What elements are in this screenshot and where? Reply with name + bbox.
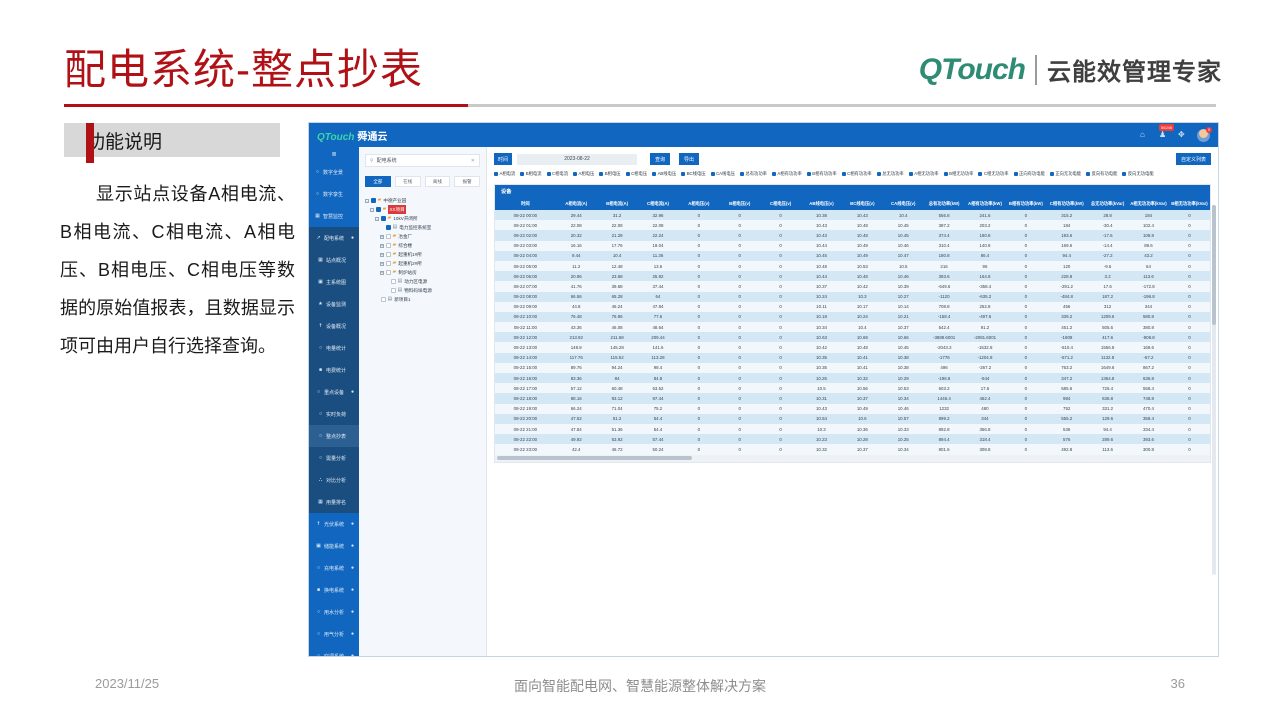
sidebar-item-17[interactable]: ▣储能系统● — [309, 535, 359, 557]
table-cell: 13.6 — [638, 261, 679, 271]
table-cell: 102.4 — [1128, 220, 1169, 230]
checkbox-icon[interactable] — [1086, 172, 1090, 176]
table-row[interactable]: 08-22 05:0011.212.4813.600010.4810.5310.… — [495, 261, 1210, 271]
table-cell: 0 — [678, 424, 719, 434]
table-cell: -17.6 — [1087, 230, 1128, 240]
field-checkbox-3[interactable]: A相电压 — [573, 171, 594, 177]
table-cell: 43.36 — [556, 322, 597, 332]
chevron-down-icon[interactable]: ● — [351, 543, 354, 549]
tree-node[interactable]: ▤物料码垛电源 — [365, 286, 480, 295]
tree-node-list: -▰中德产业园-▰XX项目-▰10kV开闭所▤电力监控系统室+▰冶金厂+▰综合楼… — [365, 196, 480, 304]
application-screenshot: QTouch 舜通云 ⌂ ♟ 56246 ✥ 0 ≣ ○数字全景○数字孪生▦智慧… — [308, 122, 1219, 657]
description-heading-bar: 功能说明 — [64, 123, 280, 157]
circle-icon: ○ — [316, 609, 321, 615]
table-cell: 393.6 — [1128, 434, 1169, 444]
table-cell: 10.34 — [883, 444, 924, 454]
table-cell: 0 — [1169, 322, 1210, 332]
collapse-icon[interactable]: - — [365, 199, 369, 203]
sidebar-item-1[interactable]: ○数字孪生 — [309, 183, 359, 205]
table-cell: 289.6 — [1087, 434, 1128, 444]
tree-node[interactable]: +▰起重机1#所 — [365, 250, 480, 259]
table-cell: 94.24 — [597, 363, 638, 373]
checkbox-icon[interactable] — [1014, 172, 1018, 176]
chevron-down-icon[interactable]: ● — [351, 565, 354, 571]
table-column-header-6[interactable]: C相电压(v) — [760, 198, 801, 210]
sidebar-item-4[interactable]: ▦站点概况 — [309, 249, 359, 271]
table-row[interactable]: 08-22 11:0043.3646.0848.6400010.3410.410… — [495, 322, 1210, 332]
table-column-header-8[interactable]: BC线电压(v) — [842, 198, 883, 210]
table-cell: 10.63 — [801, 332, 842, 342]
chevron-down-icon[interactable]: ● — [351, 631, 354, 637]
table-cell: -30.4 — [1087, 220, 1128, 230]
vertical-scrollbar[interactable] — [1212, 205, 1216, 575]
table-cell: 08-22 05:00 — [495, 261, 556, 271]
file-icon: ▤ — [393, 223, 398, 232]
table-cell: 10.49 — [842, 251, 883, 261]
table-cell: 129.6 — [1087, 414, 1128, 424]
time-label: 时间 — [494, 153, 512, 165]
tree-node[interactable]: ▤动力区电源 — [365, 277, 480, 286]
sidebar-item-label: 数字全景 — [323, 169, 343, 176]
sidebar-item-label: 换电系统 — [324, 587, 344, 594]
table-cell: -2043.2 — [924, 342, 965, 352]
table-cell: 17.76 — [597, 241, 638, 251]
table-row[interactable]: 08-22 02:0020.3221.2822.2400010.4310.481… — [495, 230, 1210, 240]
table-cell: 10.66 — [883, 332, 924, 342]
tree-node[interactable]: -▰XX项目 — [365, 205, 480, 214]
sidebar-item-22[interactable]: ○空调系统● — [309, 645, 359, 657]
table-cell: 1446.4 — [924, 393, 965, 403]
table-cell: 76.96 — [597, 312, 638, 322]
tree-filter-0[interactable]: 全部 — [365, 176, 391, 187]
table-row[interactable]: 08-22 08:0066.5665.286400010.2410.310.27… — [495, 292, 1210, 302]
table-cell: 17.6 — [965, 383, 1006, 393]
table-cell: 0 — [760, 393, 801, 403]
table-row[interactable]: 08-22 07:0041.7639.6837.4400010.3710.421… — [495, 281, 1210, 291]
tree-node[interactable]: +▰综合楼 — [365, 241, 480, 250]
table-cell: 94.4 — [1046, 251, 1087, 261]
table-cell: 140.8 — [965, 241, 1006, 251]
table-cell: 984 — [1046, 393, 1087, 403]
table-cell: 0 — [1169, 292, 1210, 302]
table-cell: 801.6 — [924, 444, 965, 454]
table-column-header-13[interactable]: C相有功功率(kW) — [1046, 198, 1087, 210]
table-cell: 0 — [719, 251, 760, 261]
table-cell: 0 — [678, 393, 719, 403]
image-icon: ▣ — [318, 279, 323, 285]
checkbox-icon[interactable] — [807, 172, 811, 176]
search-button[interactable]: 查询 — [650, 153, 670, 165]
plug-icon: ☨ — [316, 521, 321, 527]
table-cell: 763.2 — [1046, 363, 1087, 373]
table-row[interactable]: 08-22 06:0020.9623.6825.9200010.4410.481… — [495, 271, 1210, 281]
sidebar-item-5[interactable]: ▣主系统图 — [309, 271, 359, 293]
checkbox-icon[interactable] — [909, 172, 913, 176]
sidebar-item-label: 站点概况 — [326, 257, 346, 264]
table-cell: 10.42 — [842, 281, 883, 291]
chevron-down-icon[interactable]: ● — [351, 609, 354, 615]
field-checkbox-14[interactable]: A相无功功率 — [909, 171, 939, 177]
checkbox-icon[interactable] — [494, 172, 498, 176]
table-row[interactable]: 08-22 15:0089.7694.2498.400010.3510.4110… — [495, 363, 1210, 373]
checkbox-icon[interactable] — [944, 172, 948, 176]
table-cell: 10.6 — [842, 414, 883, 424]
table-cell: 10.46 — [883, 241, 924, 251]
table-cell: 22.24 — [638, 230, 679, 240]
table-cell: 20.32 — [556, 230, 597, 240]
table-cell: 0 — [1169, 383, 1210, 393]
expand-icon[interactable]: + — [380, 244, 384, 248]
table-cell: 0 — [719, 241, 760, 251]
table-cell: 10.54 — [801, 414, 842, 424]
table-cell: 10.34 — [883, 393, 924, 403]
field-checkbox-label: A相电流 — [500, 171, 516, 177]
checkbox-icon[interactable] — [978, 172, 982, 176]
tree-filter-buttons: 全部在线离线报警 — [365, 176, 480, 187]
expand-icon[interactable]: + — [380, 271, 384, 275]
field-checkbox-4[interactable]: B相电压 — [599, 171, 620, 177]
tree-filter-1[interactable]: 在线 — [395, 176, 421, 187]
tree-filter-2[interactable]: 离线 — [425, 176, 451, 187]
folder-icon: ▰ — [393, 241, 397, 250]
table-cell: 89.6 — [1128, 241, 1169, 251]
table-cell: 0 — [1169, 210, 1210, 220]
tree-filter-3[interactable]: 报警 — [454, 176, 480, 187]
table-row[interactable]: 08-22 10:0076.4876.9677.600010.1810.2410… — [495, 312, 1210, 322]
table-cell: 84 — [597, 373, 638, 383]
table-cell: 536 — [1046, 424, 1087, 434]
table-row[interactable]: 08-22 09:0044.846.2447.8400010.1110.1710… — [495, 302, 1210, 312]
table-cell: 08-22 23:00 — [495, 444, 556, 454]
folder-icon: ▰ — [388, 214, 392, 223]
table-cell: 10.46 — [883, 404, 924, 414]
field-checkbox-17[interactable]: 正向有功电能 — [1014, 171, 1045, 177]
sidebar-item-0[interactable]: ○数字全景 — [309, 161, 359, 183]
field-checkbox-13[interactable]: 总无功功率 — [877, 171, 904, 177]
table-row[interactable]: 08-22 16:0083.368484.800010.2610.3210.29… — [495, 373, 1210, 383]
tree-node-checkbox[interactable] — [381, 216, 386, 221]
sidebar-item-2[interactable]: ▦智慧监控 — [309, 205, 359, 227]
tree-node[interactable]: ▤新项目1 — [365, 295, 480, 304]
table-cell: -291.2 — [1046, 281, 1087, 291]
table-column-header-1[interactable]: A相电流(A) — [556, 198, 597, 210]
tree-spacer — [375, 298, 379, 302]
table-cell: 43.2 — [1128, 251, 1169, 261]
field-checkbox-9[interactable]: 总有功功率 — [740, 171, 767, 177]
sidebar-item-14[interactable]: ⛬对比分析 — [309, 469, 359, 491]
tree-node-checkbox[interactable] — [381, 297, 386, 302]
table-column-header-3[interactable]: C相电流(A) — [638, 198, 679, 210]
tree-node[interactable]: +▰起重机2#所 — [365, 259, 480, 268]
title-divider-accent — [64, 104, 468, 107]
table-cell: 339.2 — [1046, 312, 1087, 322]
sidebar-item-16[interactable]: ☨光伏系统● — [309, 513, 359, 535]
field-checkbox-label: 反向有功电能 — [1092, 171, 1118, 177]
table-cell: 10.45 — [883, 220, 924, 230]
table-row[interactable]: 08-22 18:0088.1693.1297.4400010.3110.371… — [495, 393, 1210, 403]
table-cell: 10.45 — [801, 251, 842, 261]
table-cell: 39.68 — [597, 281, 638, 291]
page-title: 配电系统-整点抄表 — [64, 36, 423, 97]
tree-node-checkbox[interactable] — [391, 279, 396, 284]
sidebar-item-11[interactable]: ○实时负荷 — [309, 403, 359, 425]
table-cell: 0 — [678, 383, 719, 393]
table-cell: 1132.8 — [1087, 353, 1128, 363]
fullscreen-icon[interactable]: ✥ — [1178, 131, 1186, 139]
chevron-down-icon[interactable]: ● — [351, 389, 354, 395]
table-cell: 347.2 — [1046, 373, 1087, 383]
checkbox-icon[interactable] — [877, 172, 881, 176]
chevron-down-icon[interactable]: ● — [351, 235, 354, 241]
sidebar-item-10[interactable]: ○重点设备● — [309, 381, 359, 403]
folder-icon: ▰ — [383, 205, 387, 214]
tree-node-checkbox[interactable] — [386, 252, 391, 257]
table-cell: 49.92 — [556, 434, 597, 444]
table-cell: 0 — [678, 444, 719, 454]
checkbox-icon[interactable] — [573, 172, 577, 176]
table-column-header-4[interactable]: A相电压(v) — [678, 198, 719, 210]
tree-node-checkbox[interactable] — [391, 288, 396, 293]
field-checkbox-2[interactable]: C相电流 — [547, 171, 569, 177]
field-checkbox-11[interactable]: B相有功功率 — [807, 171, 837, 177]
table-cell: 148.8 — [556, 342, 597, 352]
table-row[interactable]: 08-22 22:0049.9253.9257.4400010.2310.281… — [495, 434, 1210, 444]
sidebar-collapse-icon[interactable]: ≣ — [309, 147, 359, 161]
scrollbar-thumb[interactable] — [497, 456, 692, 460]
table-cell: 66.56 — [556, 292, 597, 302]
table-cell: -497.6 — [965, 312, 1006, 322]
checkbox-icon[interactable] — [520, 172, 524, 176]
table-cell: 0 — [678, 220, 719, 230]
table-column-header-14[interactable]: 总无功功率(kVar) — [1087, 198, 1128, 210]
table-cell: 184 — [1046, 220, 1087, 230]
field-checkbox-0[interactable]: A相电流 — [494, 171, 515, 177]
table-column-header-12[interactable]: B相有功功率(kW) — [1005, 198, 1046, 210]
table-column-header-0[interactable]: 时间 — [495, 198, 556, 210]
tree-node-checkbox[interactable] — [386, 270, 391, 275]
table-cell: 0 — [719, 230, 760, 240]
table-cell: 22.08 — [638, 220, 679, 230]
table-row[interactable]: 08-22 03:0016.1617.7619.0400010.4410.491… — [495, 241, 1210, 251]
field-checkbox-6[interactable]: AB线电压 — [652, 171, 676, 177]
table-cell: 0 — [1169, 302, 1210, 312]
expand-icon[interactable]: + — [380, 262, 384, 266]
field-checkbox-label: B相有功功率 — [812, 171, 836, 177]
field-checkbox-16[interactable]: C相无功功率 — [978, 171, 1008, 177]
checkbox-icon[interactable] — [681, 172, 685, 176]
table-cell: 77.6 — [638, 312, 679, 322]
table-column-header-2[interactable]: B相电流(A) — [597, 198, 638, 210]
table-cell: 0 — [760, 342, 801, 352]
column-config-button[interactable]: 自定义列表 — [1176, 153, 1211, 165]
table-cell: 0 — [1169, 342, 1210, 352]
sidebar-item-12[interactable]: ○整点抄表 — [309, 425, 359, 447]
table-cell: 318.4 — [965, 434, 1006, 444]
table-cell: 10.41 — [842, 353, 883, 363]
table-cell: 10.35 — [801, 353, 842, 363]
chevron-down-icon[interactable]: ● — [351, 587, 354, 593]
sidebar-nav-list: ○数字全景○数字孪生▦智慧监控↗配电系统●▦站点概况▣主系统图★设备监测☨设备概… — [309, 161, 359, 657]
tree-node[interactable]: -▰10kV开闭所 — [365, 214, 480, 223]
table-cell: 393.6 — [924, 271, 965, 281]
table-body: 08-22 00:0029.4431.232.9600010.3810.4310… — [495, 210, 1210, 455]
sidebar-item-7[interactable]: ☨设备概况 — [309, 315, 359, 337]
grid-icon: ▦ — [318, 499, 323, 505]
table-cell: 0 — [1005, 434, 1046, 444]
sidebar-item-13[interactable]: ○需量分析 — [309, 447, 359, 469]
table-cell: 0 — [1169, 444, 1210, 454]
sidebar-item-20[interactable]: ○用水分析● — [309, 601, 359, 623]
table-cell: 0 — [760, 353, 801, 363]
field-checkbox-12[interactable]: C相有功功率 — [842, 171, 872, 177]
field-checkbox-7[interactable]: BC线电压 — [681, 171, 705, 177]
chevron-down-icon[interactable]: ● — [351, 521, 354, 527]
sidebar-item-8[interactable]: ○电量统计 — [309, 337, 359, 359]
logo-text: QTouch — [919, 53, 1025, 87]
collapse-icon[interactable]: - — [370, 208, 374, 212]
table-row[interactable]: 08-22 14:00117.76115.52113.2800010.3510.… — [495, 353, 1210, 363]
export-button[interactable]: 导出 — [679, 153, 699, 165]
table-cell: 65.28 — [597, 292, 638, 302]
table-row[interactable]: 08-22 12:00213.92211.68209.4400010.6310.… — [495, 332, 1210, 342]
table-row[interactable]: 08-22 20:0047.5251.254.400010.5410.610.5… — [495, 414, 1210, 424]
table-cell: 115.52 — [597, 353, 638, 363]
sidebar-item-18[interactable]: ○充电系统● — [309, 557, 359, 579]
checkbox-icon[interactable] — [626, 172, 630, 176]
tree-node-checkbox[interactable] — [371, 198, 376, 203]
field-checkbox-label: BC线电压 — [687, 171, 706, 177]
table-column-header-9[interactable]: CA线电压(v) — [883, 198, 924, 210]
home-icon[interactable]: ⌂ — [1140, 131, 1148, 139]
table-cell: 0 — [1169, 281, 1210, 291]
field-checkbox-20[interactable]: 反向无功电能 — [1122, 171, 1153, 177]
table-cell: 145.28 — [597, 342, 638, 352]
tree-node[interactable]: +▰制炉站房 — [365, 268, 480, 277]
table-row[interactable]: 08-22 21:0047.8451.3654.400010.310.3610.… — [495, 424, 1210, 434]
table-cell: 10.42 — [801, 342, 842, 352]
tree-node-checkbox[interactable] — [376, 207, 381, 212]
tree-node[interactable]: -▰中德产业园 — [365, 196, 480, 205]
checkbox-icon[interactable] — [1050, 172, 1054, 176]
table-cell: 0 — [719, 353, 760, 363]
tree-node-checkbox[interactable] — [386, 225, 391, 230]
table-cell: 19.04 — [638, 241, 679, 251]
sidebar-item-9[interactable]: ■电费统计 — [309, 359, 359, 381]
expand-icon[interactable]: + — [380, 235, 384, 239]
tree-node[interactable]: +▰冶金厂 — [365, 232, 480, 241]
checkbox-icon[interactable] — [711, 172, 715, 176]
table-cell: 0 — [760, 322, 801, 332]
tree-node-checkbox[interactable] — [386, 243, 391, 248]
sidebar-item-6[interactable]: ★设备监测 — [309, 293, 359, 315]
sidebar-item-label: 电费统计 — [326, 367, 346, 374]
table-column-header-16[interactable]: B相无功功率(kVar) — [1169, 198, 1210, 210]
table-column-header-7[interactable]: AB线电压(v) — [801, 198, 842, 210]
tree-search-box[interactable]: ⚲ 配电系统 ✕ — [365, 154, 480, 167]
table-cell: 53.92 — [597, 434, 638, 444]
table-row[interactable]: 08-22 04:009.4410.411.3600010.4510.4910.… — [495, 251, 1210, 261]
tree-spacer — [385, 280, 389, 284]
clear-icon[interactable]: ✕ — [471, 158, 475, 164]
square-icon: ■ — [316, 587, 321, 593]
field-checkbox-10[interactable]: A相有功功率 — [772, 171, 802, 177]
table-cell: 08-22 14:00 — [495, 353, 556, 363]
table-cell: 08-22 07:00 — [495, 281, 556, 291]
checkbox-icon[interactable] — [772, 172, 776, 176]
sidebar-item-21[interactable]: ○用气分析● — [309, 623, 359, 645]
expand-icon[interactable]: + — [380, 253, 384, 257]
checkbox-icon[interactable] — [1122, 172, 1126, 176]
table-row[interactable]: 08-22 13:00148.8145.28141.600010.4210.48… — [495, 342, 1210, 352]
checkbox-icon[interactable] — [842, 172, 846, 176]
date-input[interactable]: 2023-08-22 — [517, 154, 637, 165]
table-cell: 456 — [1046, 302, 1087, 312]
collapse-icon[interactable]: - — [375, 217, 379, 221]
search-input[interactable]: 配电系统 — [377, 157, 468, 164]
field-checkbox-19[interactable]: 反向有功电能 — [1086, 171, 1117, 177]
chevron-down-icon[interactable]: ● — [351, 653, 354, 657]
field-checkbox-18[interactable]: 正向无功电能 — [1050, 171, 1081, 177]
field-checkbox-8[interactable]: CA线电压 — [711, 171, 735, 177]
table-cell: 10.45 — [883, 342, 924, 352]
table-cell: 0 — [678, 312, 719, 322]
table-row[interactable]: 08-22 01:0022.0822.0822.0800010.4310.481… — [495, 220, 1210, 230]
avatar[interactable]: 0 — [1197, 129, 1210, 142]
checkbox-icon[interactable] — [740, 172, 744, 176]
checkbox-icon[interactable] — [547, 172, 551, 176]
table-caption: 设备 — [495, 185, 1210, 198]
tree-node-checkbox[interactable] — [386, 234, 391, 239]
table-row[interactable]: 08-22 17:0057.1260.4863.5200010.510.5610… — [495, 383, 1210, 393]
tree-node-label: 10kV开闭所 — [393, 214, 417, 223]
table-row[interactable]: 08-22 19:0066.2471.0475.200010.4310.4910… — [495, 404, 1210, 414]
checkbox-icon[interactable] — [652, 172, 656, 176]
avatar-badge: 0 — [1206, 127, 1212, 133]
tree-node-checkbox[interactable] — [386, 261, 391, 266]
table-cell: 0 — [678, 281, 719, 291]
table-cell: 08-22 09:00 — [495, 302, 556, 312]
table-row[interactable]: 08-22 00:0029.4431.232.9600010.3810.4310… — [495, 210, 1210, 220]
table-cell: 542.4 — [924, 322, 965, 332]
table-column-header-11[interactable]: A相有功功率(kW) — [965, 198, 1006, 210]
table-column-header-10[interactable]: 总有功功率(kW) — [924, 198, 965, 210]
table-row[interactable]: 08-22 23:0042.446.7250.2400010.3210.3710… — [495, 444, 1210, 454]
field-checkbox-5[interactable]: C相电压 — [626, 171, 648, 177]
tree-spacer — [385, 289, 389, 293]
table-column-header-15[interactable]: A相无功功率(kVar) — [1128, 198, 1169, 210]
tree-node[interactable]: ▤电力监控系统室 — [365, 223, 480, 232]
table-cell: 83.36 — [556, 373, 597, 383]
sidebar-item-19[interactable]: ■换电系统● — [309, 579, 359, 601]
folder-icon: ▰ — [393, 250, 397, 259]
vertical-scrollbar-thumb[interactable] — [1212, 205, 1216, 325]
sidebar-item-15[interactable]: ▦用量排名 — [309, 491, 359, 513]
circle-icon: ○ — [315, 169, 320, 175]
table-cell: 0 — [1005, 230, 1046, 240]
table-column-header-5[interactable]: B相电压(v) — [719, 198, 760, 210]
sidebar-item-3[interactable]: ↗配电系统● — [309, 227, 359, 249]
table-cell: 47.84 — [556, 424, 597, 434]
checkbox-icon[interactable] — [599, 172, 603, 176]
horizontal-scrollbar[interactable] — [495, 455, 1210, 462]
table-cell: 10.48 — [842, 271, 883, 281]
bell-icon[interactable]: ♟ 56246 — [1159, 131, 1167, 139]
table-cell: 0 — [760, 241, 801, 251]
table-cell: 0 — [760, 434, 801, 444]
field-checkbox-1[interactable]: B相电流 — [520, 171, 541, 177]
field-checkbox-15[interactable]: B相无功功率 — [944, 171, 974, 177]
table-cell: 492.8 — [1046, 444, 1087, 454]
